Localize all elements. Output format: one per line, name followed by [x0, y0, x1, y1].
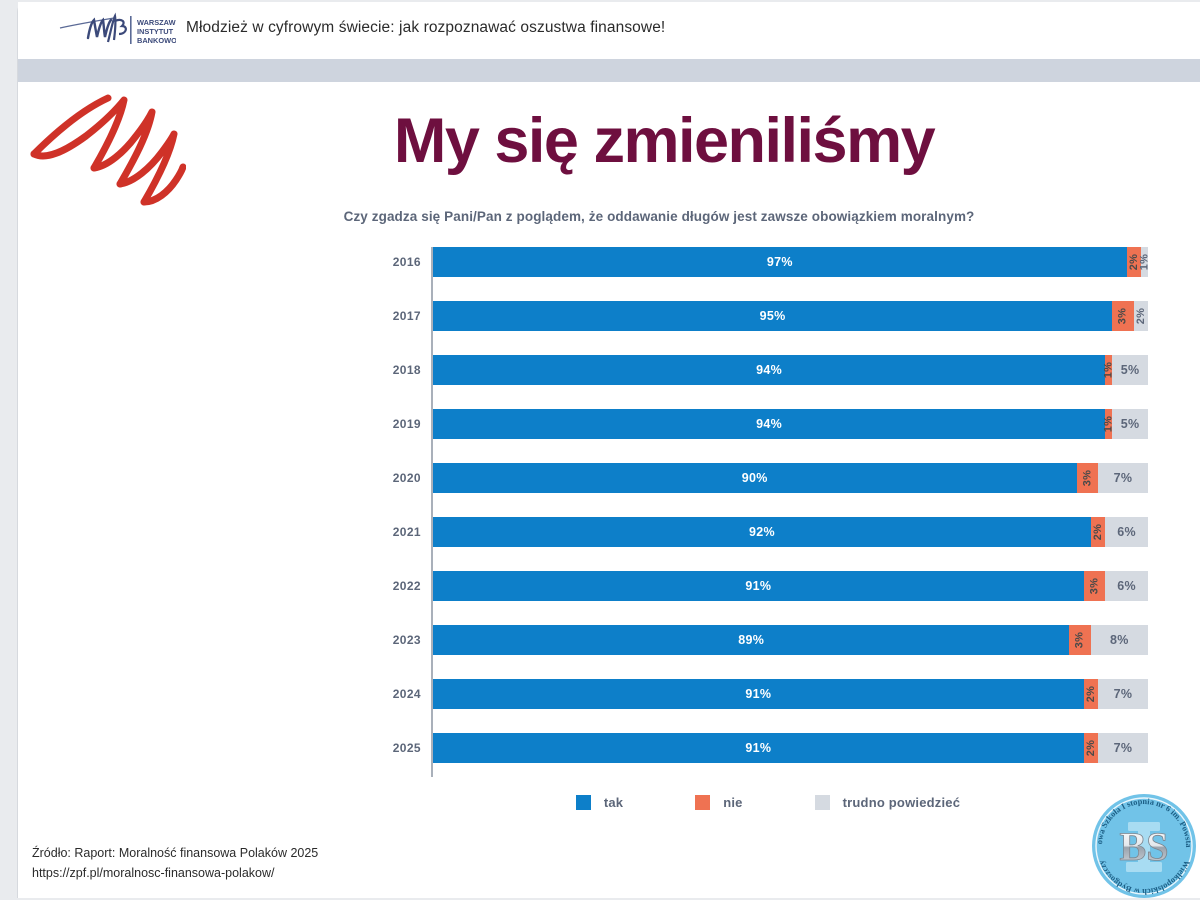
chart-subtitle: Czy zgadza się Pani/Pan z poglądem, że o… [18, 209, 1200, 224]
bar-segment-value: 7% [1098, 463, 1148, 493]
chart-row: 201994%1%5% [373, 409, 1163, 463]
bar-segment-nie: 3% [1069, 625, 1090, 655]
legend-item[interactable]: nie [695, 795, 742, 810]
chart-row: 202291%3%6% [373, 571, 1163, 625]
bar-segment-value: 7% [1098, 679, 1148, 709]
legend-label: trudno powiedzieć [843, 795, 961, 810]
chart-year-label: 2017 [373, 301, 421, 331]
bar-segment-tak: 94% [433, 355, 1105, 385]
bar-segment-td: 2% [1134, 301, 1148, 331]
chart-year-label: 2022 [373, 571, 421, 601]
legend-item[interactable]: trudno powiedzieć [815, 795, 961, 810]
header-divider-band [18, 59, 1200, 82]
legend-swatch [695, 795, 710, 810]
source-note: Źródło: Raport: Moralność finansowa Pola… [32, 843, 318, 884]
bar-segment-tak: 91% [433, 571, 1084, 601]
chart-row: 202090%3%7% [373, 463, 1163, 517]
stacked-bar: 94%1%5% [433, 409, 1148, 439]
logo-line-1: WARSZAWSKI [137, 18, 176, 27]
chart-year-label: 2020 [373, 463, 421, 493]
bar-segment-tak: 95% [433, 301, 1112, 331]
chart-title: My się zmieniliśmy [18, 110, 1200, 173]
legend-label: nie [723, 795, 742, 810]
bar-segment-td: 5% [1112, 355, 1148, 385]
bar-segment-value: 97% [433, 247, 1127, 277]
chart-row: 201894%1%5% [373, 355, 1163, 409]
slide-viewer: WARSZAWSKI INSTYTUT BANKOWOŚCI Młodzież … [0, 0, 1200, 900]
logo-line-2: INSTYTUT [137, 27, 174, 36]
bar-segment-nie: 1% [1105, 409, 1112, 439]
bar-segment-value: 5% [1112, 409, 1148, 439]
bar-segment-td: 6% [1105, 517, 1148, 547]
chart-year-label: 2024 [373, 679, 421, 709]
bar-segment-value: 6% [1105, 517, 1148, 547]
bar-segment-nie: 3% [1077, 463, 1098, 493]
bar-segment-value: 90% [433, 463, 1077, 493]
bar-segment-tak: 89% [433, 625, 1069, 655]
stacked-bar: 95%3%2% [433, 301, 1148, 331]
bar-segment-value: 5% [1112, 355, 1148, 385]
legend-label: tak [604, 795, 623, 810]
stacked-bar: 91%2%7% [433, 679, 1148, 709]
bar-segment-tak: 92% [433, 517, 1091, 547]
chart-row: 202192%2%6% [373, 517, 1163, 571]
chart-year-label: 2023 [373, 625, 421, 655]
stacked-bar-chart: 201697%2%1%201795%3%2%201894%1%5%201994%… [373, 247, 1163, 807]
bar-segment-value: 1% [1129, 258, 1159, 265]
source-line-1: Źródło: Raport: Moralność finansowa Pola… [32, 843, 318, 864]
bar-segment-value: 94% [433, 355, 1105, 385]
wib-logo: WARSZAWSKI INSTYTUT BANKOWOŚCI [58, 12, 176, 48]
school-badge: Branżowa Szkoła I stopnia nr 6 im. Powst… [1088, 790, 1200, 898]
bar-segment-value: 8% [1091, 625, 1148, 655]
bar-segment-nie: 1% [1105, 355, 1112, 385]
bar-segment-td: 8% [1091, 625, 1148, 655]
bar-segment-td: 7% [1098, 463, 1148, 493]
bar-segment-tak: 94% [433, 409, 1105, 439]
chart-year-label: 2025 [373, 733, 421, 763]
bar-segment-nie: 2% [1091, 517, 1105, 547]
chart-row: 201795%3%2% [373, 301, 1163, 355]
stacked-bar: 94%1%5% [433, 355, 1148, 385]
bar-segment-value: 94% [433, 409, 1105, 439]
chart-year-label: 2021 [373, 517, 421, 547]
bar-segment-nie: 3% [1084, 571, 1105, 601]
bar-segment-td: 7% [1098, 679, 1148, 709]
bar-segment-value: 7% [1098, 733, 1148, 763]
chart-row: 201697%2%1% [373, 247, 1163, 301]
badge-initials: BS [1120, 824, 1169, 869]
bar-segment-value: 91% [433, 733, 1084, 763]
slide-header: WARSZAWSKI INSTYTUT BANKOWOŚCI Młodzież … [18, 2, 1200, 57]
bar-segment-tak: 97% [433, 247, 1127, 277]
chart-year-label: 2018 [373, 355, 421, 385]
bar-segment-td: 5% [1112, 409, 1148, 439]
source-url[interactable]: https://zpf.pl/moralnosc-finansowa-polak… [32, 863, 318, 884]
slide-content: My się zmieniliśmy Czy zgadza się Pani/P… [18, 82, 1200, 898]
bar-segment-nie: 2% [1084, 733, 1098, 763]
bar-segment-tak: 91% [433, 733, 1084, 763]
legend-swatch [576, 795, 591, 810]
bar-segment-value: 91% [433, 679, 1084, 709]
stacked-bar: 91%2%7% [433, 733, 1148, 763]
chart-legend: taknietrudno powiedzieć [373, 795, 1163, 810]
logo-line-3: BANKOWOŚCI [137, 36, 176, 45]
legend-swatch [815, 795, 830, 810]
bar-segment-td: 6% [1105, 571, 1148, 601]
bar-segment-tak: 90% [433, 463, 1077, 493]
chart-year-label: 2019 [373, 409, 421, 439]
stacked-bar: 91%3%6% [433, 571, 1148, 601]
chart-row: 202591%2%7% [373, 733, 1163, 787]
bar-segment-value: 92% [433, 517, 1091, 547]
chart-row: 202491%2%7% [373, 679, 1163, 733]
chart-year-label: 2016 [373, 247, 421, 277]
bar-segment-tak: 91% [433, 679, 1084, 709]
stacked-bar: 90%3%7% [433, 463, 1148, 493]
bar-segment-td: 1% [1141, 247, 1148, 277]
bar-segment-td: 7% [1098, 733, 1148, 763]
bar-segment-value: 91% [433, 571, 1084, 601]
stacked-bar: 89%3%8% [433, 625, 1148, 655]
presentation-title: Młodzież w cyfrowym świecie: jak rozpozn… [186, 19, 665, 37]
stacked-bar: 92%2%6% [433, 517, 1148, 547]
bar-segment-value: 2% [1126, 309, 1156, 323]
bar-segment-nie: 2% [1084, 679, 1098, 709]
bar-segment-value: 89% [433, 625, 1069, 655]
presentation-slide: WARSZAWSKI INSTYTUT BANKOWOŚCI Młodzież … [18, 2, 1200, 898]
stacked-bar: 97%2%1% [433, 247, 1148, 277]
legend-item[interactable]: tak [576, 795, 623, 810]
chart-row: 202389%3%8% [373, 625, 1163, 679]
chart-rows: 201697%2%1%201795%3%2%201894%1%5%201994%… [373, 247, 1163, 787]
bar-segment-value: 95% [433, 301, 1112, 331]
bar-segment-value: 6% [1105, 571, 1148, 601]
